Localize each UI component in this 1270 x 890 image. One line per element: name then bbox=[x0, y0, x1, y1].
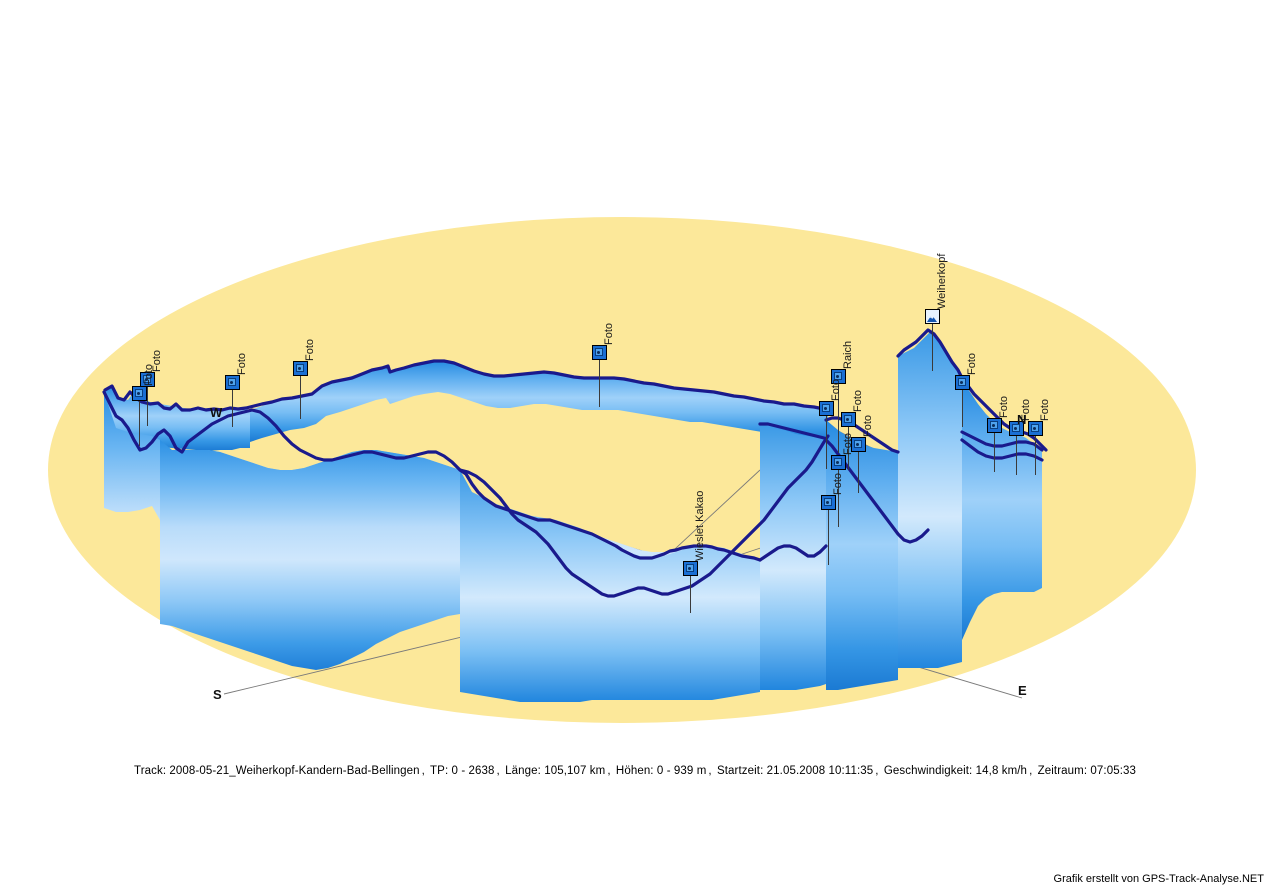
caption-sep-5: , bbox=[873, 765, 880, 777]
poi-label: Raich bbox=[842, 341, 854, 369]
caption-speed-label: Geschwindigkeit: bbox=[884, 765, 973, 777]
poi-pole bbox=[962, 389, 963, 427]
camera-lens-dot bbox=[1033, 427, 1036, 430]
watermark-credit: Grafik erstellt von GPS-Track-Analyse.NE… bbox=[1054, 873, 1264, 885]
poi-pole bbox=[147, 386, 148, 426]
caption-sep-6: , bbox=[1027, 765, 1034, 777]
camera-lens-dot bbox=[824, 407, 827, 410]
compass-label-south: S bbox=[213, 687, 222, 702]
poi-pole bbox=[599, 359, 600, 407]
caption-sep-2: , bbox=[495, 765, 502, 777]
terrain-scene bbox=[0, 0, 1270, 890]
camera-lens-dot bbox=[856, 443, 859, 446]
camera-icon[interactable] bbox=[132, 386, 147, 401]
caption-sep-1: , bbox=[420, 765, 427, 777]
poi-pole bbox=[858, 451, 859, 493]
camera-lens-dot bbox=[298, 367, 301, 370]
camera-lens-dot bbox=[836, 461, 839, 464]
caption-track-name: 2008-05-21_Weiherkopf-Kandern-Bad-Bellin… bbox=[169, 765, 419, 777]
poi-pole bbox=[994, 432, 995, 472]
caption-height-value: 0 - 939 m bbox=[657, 765, 706, 777]
camera-lens-dot bbox=[688, 567, 691, 570]
camera-lens-dot bbox=[960, 381, 963, 384]
camera-lens-dot bbox=[846, 418, 849, 421]
caption-duration-label: Zeitraum: bbox=[1038, 765, 1087, 777]
poi-label: Foto bbox=[830, 379, 842, 401]
caption-starttime-label: Startzeit: bbox=[717, 765, 763, 777]
poi-label: Foto bbox=[852, 390, 864, 412]
poi-pole bbox=[826, 415, 827, 469]
caption-height-label: Höhen: bbox=[616, 765, 654, 777]
caption-tp-value: 0 - 2638 bbox=[452, 765, 495, 777]
camera-icon[interactable] bbox=[1028, 421, 1043, 436]
poi-label: Foto bbox=[236, 353, 248, 375]
camera-lens-dot bbox=[826, 501, 829, 504]
poi-label: Weiherkopf bbox=[936, 254, 948, 309]
compass-label-north: N bbox=[1017, 412, 1026, 427]
poi-label: Foto bbox=[998, 396, 1010, 418]
poi-pole bbox=[300, 375, 301, 419]
track-caption: Track: 2008-05-21_Weiherkopf-Kandern-Bad… bbox=[0, 765, 1270, 777]
poi-pole bbox=[690, 575, 691, 613]
camera-icon[interactable] bbox=[987, 418, 1002, 433]
camera-icon[interactable] bbox=[293, 361, 308, 376]
caption-starttime-value: 21.05.2008 10:11:35 bbox=[767, 765, 874, 777]
caption-length-label: Länge: bbox=[505, 765, 541, 777]
camera-icon[interactable] bbox=[592, 345, 607, 360]
poi-pole bbox=[232, 389, 233, 427]
caption-speed-value: 14,8 km/h bbox=[976, 765, 1027, 777]
camera-lens-dot bbox=[137, 392, 140, 395]
camera-icon[interactable] bbox=[831, 455, 846, 470]
compass-label-east: E bbox=[1018, 683, 1027, 698]
poi-label: Foto bbox=[304, 339, 316, 361]
camera-lens-dot bbox=[992, 424, 995, 427]
camera-icon[interactable] bbox=[225, 375, 240, 390]
poi-pole bbox=[828, 509, 829, 565]
caption-sep-3: , bbox=[605, 765, 612, 777]
compass-label-west: W bbox=[210, 405, 222, 420]
poi-label: Foto bbox=[842, 433, 854, 455]
camera-lens-dot bbox=[597, 351, 600, 354]
caption-length-value: 105,107 km bbox=[544, 765, 605, 777]
caption-duration-value: 07:05:33 bbox=[1090, 765, 1136, 777]
camera-icon[interactable] bbox=[821, 495, 836, 510]
poi-pole bbox=[932, 323, 933, 371]
camera-lens-dot bbox=[836, 375, 839, 378]
poi-label: Foto bbox=[1039, 399, 1051, 421]
caption-track-label: Track: bbox=[134, 765, 166, 777]
poi-label: Foto bbox=[966, 353, 978, 375]
poi-pole bbox=[139, 400, 140, 446]
camera-icon[interactable] bbox=[955, 375, 970, 390]
camera-icon[interactable] bbox=[819, 401, 834, 416]
camera-icon[interactable] bbox=[683, 561, 698, 576]
poi-label: Foto bbox=[603, 323, 615, 345]
gps-track-3d-visualization: FotoFotoFotoFotoFotoWieslet KakaoRaichFo… bbox=[0, 0, 1270, 890]
camera-lens-dot bbox=[230, 381, 233, 384]
poi-pole bbox=[1035, 435, 1036, 475]
camera-icon[interactable] bbox=[841, 412, 856, 427]
poi-label: Foto bbox=[143, 364, 155, 386]
poi-label: Wieslet Kakao bbox=[694, 491, 706, 561]
poi-pole bbox=[1016, 435, 1017, 475]
mountain-glyph bbox=[927, 315, 937, 322]
poi-label: Foto bbox=[832, 473, 844, 495]
poi-label: Foto bbox=[862, 415, 874, 437]
peak-icon[interactable] bbox=[925, 309, 940, 324]
caption-sep-4: , bbox=[706, 765, 713, 777]
caption-tp-label: TP: bbox=[430, 765, 448, 777]
